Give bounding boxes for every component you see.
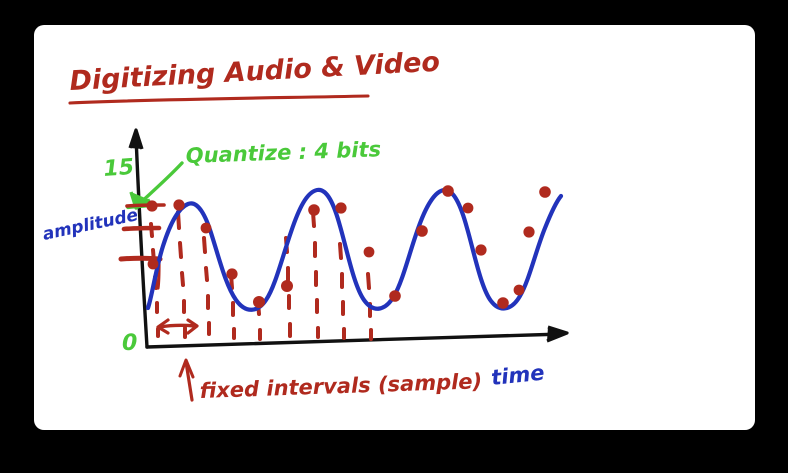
sample-point [308, 204, 320, 216]
sample-dropline [178, 212, 185, 337]
axis-min-label: 0 [122, 331, 137, 356]
quantize-label: Quantize : 4 bits [185, 137, 381, 168]
quantization-tick [127, 205, 164, 206]
sample-droplines-group [151, 212, 371, 339]
x-axis-arrowhead [547, 327, 567, 341]
sample-point [253, 296, 265, 308]
interval-arrow-shaft [160, 325, 195, 327]
sample-point [514, 285, 525, 296]
sample-point [226, 268, 237, 279]
quantization-tick [124, 228, 159, 229]
sample-dropline [204, 238, 209, 334]
sample-point [389, 290, 401, 302]
sample-point [173, 199, 184, 210]
y-axis-line [136, 136, 147, 347]
sample-point [442, 185, 454, 197]
axis-max-label: 15 [103, 155, 135, 182]
x-axis-label: time [490, 361, 546, 390]
sample-point [146, 200, 157, 211]
sample-dropline [231, 274, 234, 338]
sample-point [523, 226, 534, 237]
sample-point [416, 225, 428, 237]
interval-double-arrow [158, 320, 197, 333]
analog-waveform-line [148, 190, 561, 310]
y-axis-label: amplitude [41, 205, 140, 245]
sample-point [475, 244, 486, 255]
page-title: Digitizing Audio & Video [69, 47, 441, 97]
sample-dropline [313, 212, 318, 337]
whiteboard-drawing: Digitizing Audio & Video 15 0 Quantize :… [0, 0, 788, 473]
title-group: Digitizing Audio & Video [69, 47, 441, 103]
sampling-label: fixed intervals (sample) [199, 369, 482, 403]
sample-point [148, 259, 159, 270]
sample-point [201, 223, 212, 234]
sample-point [463, 203, 474, 214]
sample-points-group [146, 185, 550, 309]
quantize-arrow-shaft [139, 163, 182, 204]
y-axis-arrowhead [130, 130, 142, 149]
title-underline [70, 96, 368, 103]
sample-point [539, 186, 551, 198]
sampling-annotation-group: fixed intervals (sample) [180, 360, 483, 403]
sample-point [281, 280, 293, 292]
sample-dropline [340, 244, 344, 338]
sample-point [364, 247, 375, 258]
sample-point [497, 297, 509, 309]
screenshot-root: Digitizing Audio & Video 15 0 Quantize :… [0, 0, 788, 473]
sample-point [335, 202, 346, 213]
